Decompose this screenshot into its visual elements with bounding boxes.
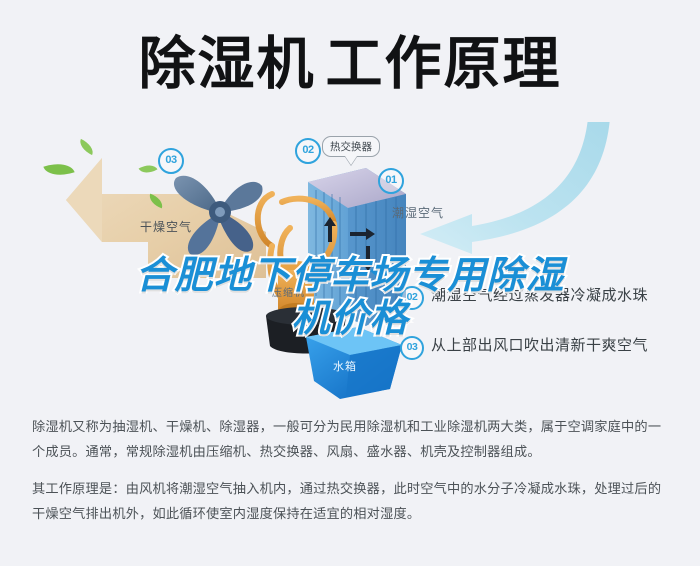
diagram-badge-02: 02 xyxy=(295,138,321,164)
page-title-part2: 工作原理 xyxy=(326,32,562,96)
paragraph-2: 其工作原理是：由风机将潮湿空气抽入机内，通过热交换器，此时空气中的水分子冷凝成水… xyxy=(32,476,672,526)
diagram-badge-03: 03 xyxy=(158,148,184,174)
heat-exchanger-callout-label: 热交换器 xyxy=(330,141,372,153)
humid-air-label: 潮湿空气 xyxy=(392,204,444,221)
heat-exchanger-callout: 热交换器 xyxy=(322,136,380,157)
description-block: 除湿机又称为抽湿机、干燥机、除湿器，一般可分为民用除湿机和工业除湿机两大类，属于… xyxy=(32,414,672,538)
compressor-label: 压缩机 xyxy=(272,284,305,299)
list-item: 02 潮湿空气经过蒸发器冷凝成水珠 xyxy=(400,286,690,310)
list-item: 03 从上部出风口吹出清新干爽空气 xyxy=(400,336,690,360)
callout-tail-icon xyxy=(345,156,357,165)
step-text: 从上部出风口吹出清新干爽空气 xyxy=(431,336,648,356)
page-title: 除湿机工作原理 xyxy=(0,28,700,100)
step-badge: 03 xyxy=(400,336,424,360)
page-title-part1: 除湿机 xyxy=(139,32,316,96)
paragraph-1: 除湿机又称为抽湿机、干燥机、除湿器，一般可分为民用除湿机和工业除湿机两大类，属于… xyxy=(32,414,672,464)
step-badge: 02 xyxy=(400,286,424,310)
step-list: 02 潮湿空气经过蒸发器冷凝成水珠 03 从上部出风口吹出清新干爽空气 xyxy=(400,286,690,386)
step-text: 潮湿空气经过蒸发器冷凝成水珠 xyxy=(431,286,648,306)
diagram-badge-01: 01 xyxy=(378,168,404,194)
dry-air-label: 干燥空气 xyxy=(140,218,192,235)
infographic-page: 除湿机工作原理 xyxy=(0,0,700,566)
